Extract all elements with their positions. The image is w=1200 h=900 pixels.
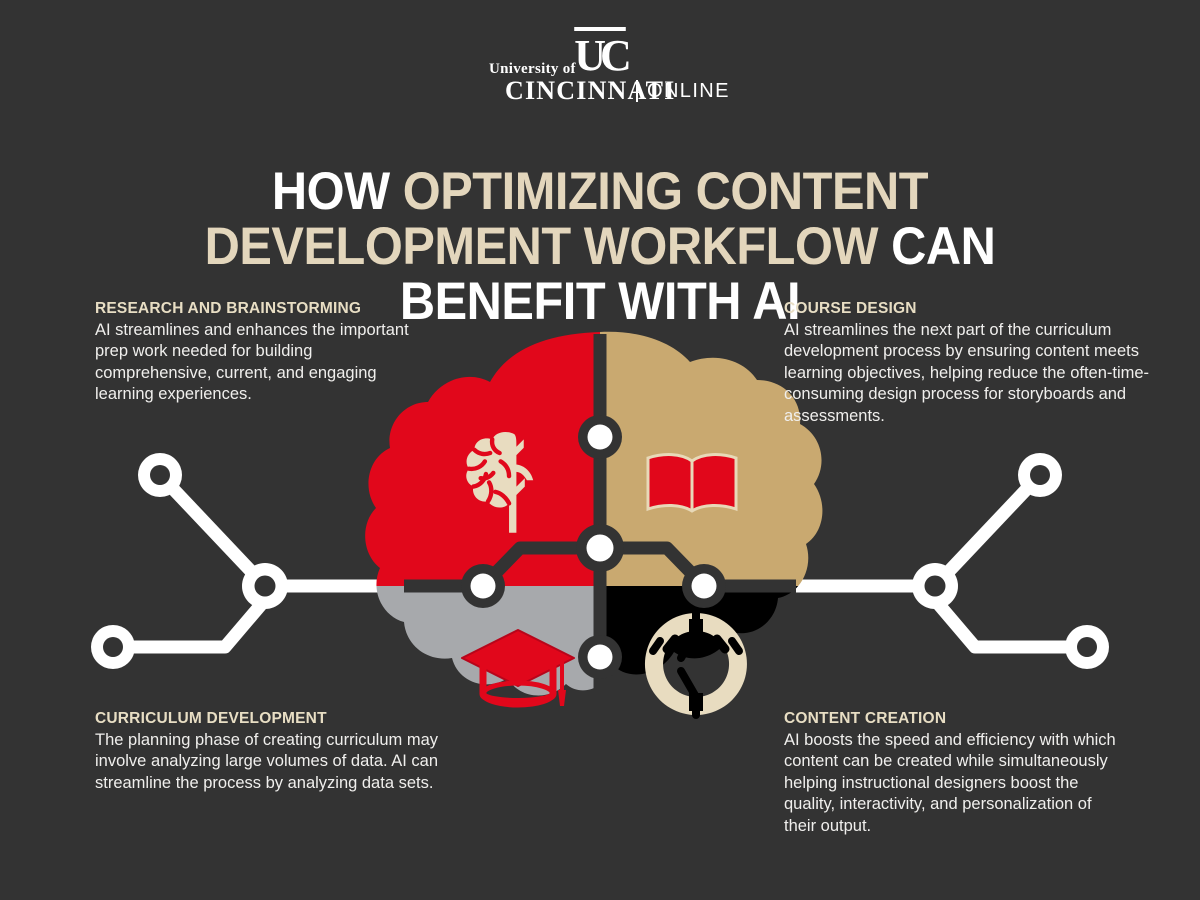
brain-node-left xyxy=(461,564,505,608)
section-content-creation: CONTENT CREATION AI boosts the speed and… xyxy=(784,710,1124,837)
uc-monogram-icon: UC xyxy=(0,34,1200,70)
section-heading-research: RESEARCH AND BRAINSTORMING xyxy=(95,300,415,318)
brain-node-middle-center xyxy=(576,524,624,572)
infographic-canvas: UC University of CINCINNATI ONLINE HOW O… xyxy=(0,0,1200,900)
brain-quadrant-research xyxy=(365,332,822,696)
right-connector-network xyxy=(730,475,1087,647)
logo-university-of: University of xyxy=(489,62,576,77)
logo-lockup: University of CINCINNATI ONLINE xyxy=(0,74,1200,108)
left-lower-branch-line xyxy=(113,600,265,647)
section-body-curriculum: The planning phase of creating curriculu… xyxy=(95,730,440,794)
brain-icon xyxy=(466,432,533,533)
section-heading-course-design: COURSE DESIGN xyxy=(784,300,1184,318)
left-angled-separator xyxy=(483,548,600,586)
left-node-hub xyxy=(242,563,288,609)
section-body-research: AI streamlines and enhances the importan… xyxy=(95,320,415,406)
right-node-upper xyxy=(1018,453,1062,497)
right-node-hub xyxy=(912,563,958,609)
left-connector-network xyxy=(113,475,470,647)
left-node-lower xyxy=(91,625,135,669)
brain-separator-tracks xyxy=(404,334,796,690)
uc-monogram-text: UC xyxy=(574,31,626,80)
brain-quadrants xyxy=(365,332,822,696)
logo-online: ONLINE xyxy=(647,81,730,101)
brain-node-right xyxy=(682,564,726,608)
right-lower-branch-line xyxy=(935,600,1087,647)
brain-quadrant-course-design xyxy=(365,332,822,696)
right-upper-branch-line xyxy=(935,475,1040,586)
logo-divider xyxy=(636,80,638,102)
recycle-cycle-icon xyxy=(645,613,747,715)
graduation-cap-icon xyxy=(462,630,574,706)
uc-online-logo: UC University of CINCINNATI ONLINE xyxy=(0,34,1200,108)
brain-node-top-center xyxy=(578,415,622,459)
section-heading-curriculum: CURRICULUM DEVELOPMENT xyxy=(95,710,440,728)
section-research-and-brainstorming: RESEARCH AND BRAINSTORMING AI streamline… xyxy=(95,300,415,406)
brain-node-bottom-center xyxy=(578,635,622,679)
title-part-plain-1: HOW xyxy=(272,162,403,221)
brain-quadrant-curriculum xyxy=(365,332,822,696)
section-curriculum-development: CURRICULUM DEVELOPMENT The planning phas… xyxy=(95,710,440,794)
left-node-upper xyxy=(138,453,182,497)
section-heading-content-creation: CONTENT CREATION xyxy=(784,710,1124,728)
right-node-lower xyxy=(1065,625,1109,669)
brain-quadrant-content-creation xyxy=(365,332,822,696)
section-body-course-design: AI streamlines the next part of the curr… xyxy=(784,320,1184,427)
right-angled-separator xyxy=(600,548,704,586)
section-body-content-creation: AI boosts the speed and efficiency with … xyxy=(784,730,1124,837)
left-upper-branch-line xyxy=(160,475,265,586)
open-book-icon xyxy=(648,455,736,511)
section-course-design: COURSE DESIGN AI streamlines the next pa… xyxy=(784,300,1184,427)
